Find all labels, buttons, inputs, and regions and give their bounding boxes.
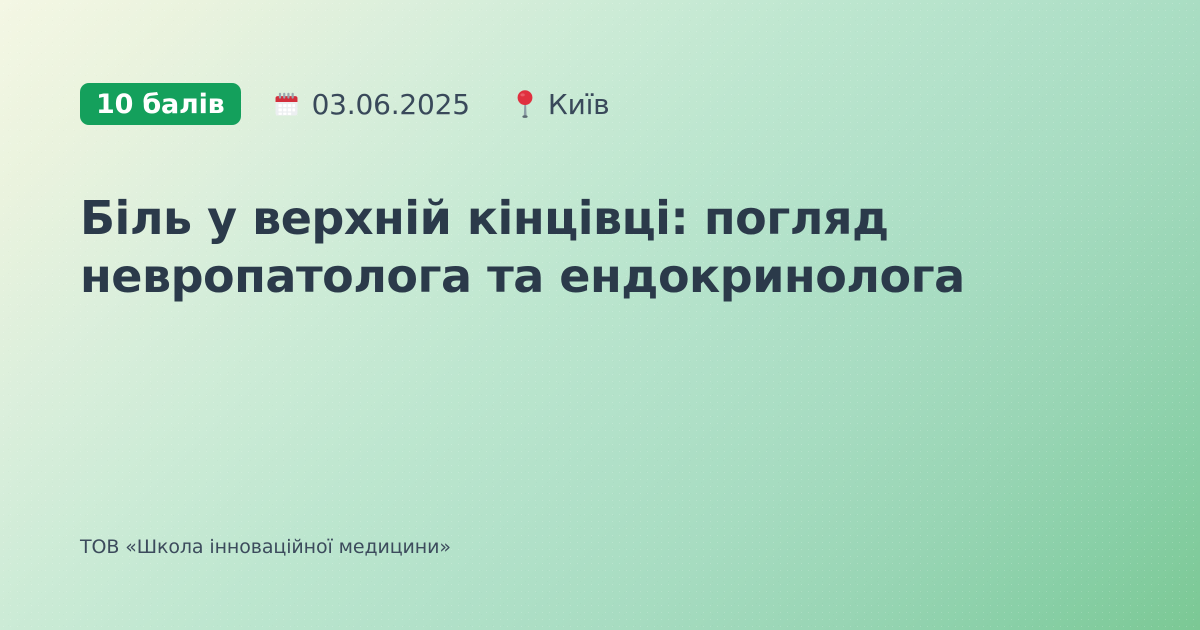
points-badge: 10 балів xyxy=(80,83,241,125)
event-date-text: 03.06.2025 xyxy=(312,88,470,121)
map-pin-icon xyxy=(514,89,536,119)
event-location-text: Київ xyxy=(548,88,610,121)
event-preview-card: 10 балів xyxy=(0,0,1200,630)
event-location: Київ xyxy=(514,88,610,121)
calendar-icon xyxy=(273,91,300,118)
event-date: 03.06.2025 xyxy=(273,88,470,121)
organizer-name: ТОВ «Школа інноваційної медицини» xyxy=(80,536,1120,558)
meta-row: 10 балів xyxy=(80,83,1120,125)
event-title: Біль у верхній кінцівці: погляд невропат… xyxy=(80,189,1040,305)
card-content: 10 балів xyxy=(0,0,1200,630)
